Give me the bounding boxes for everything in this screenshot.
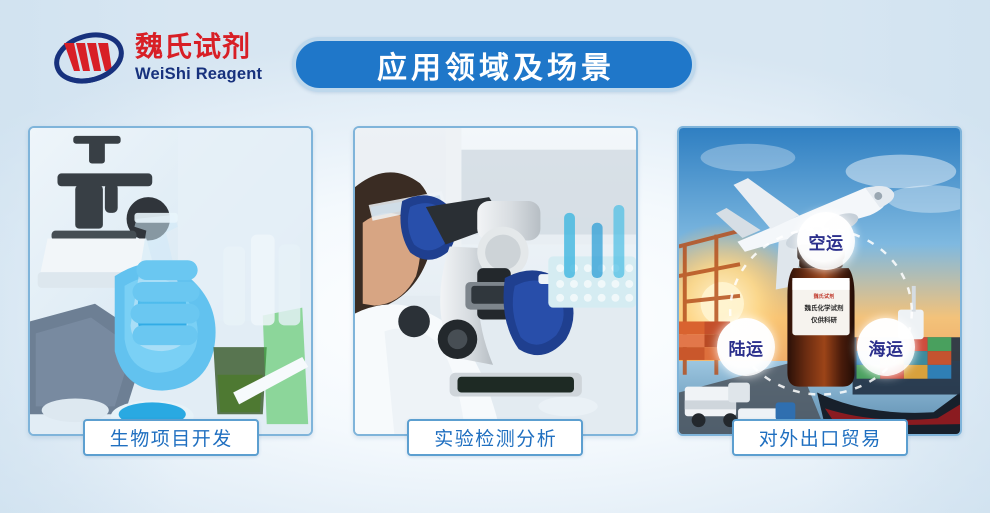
card-label-lab-testing-analysis: 实验检测分析 bbox=[407, 419, 583, 456]
page-title: 应用领域及场景 bbox=[373, 43, 615, 87]
bottle-label: 魏氏试剂 魏氏化学试剂 仅供科研 bbox=[799, 286, 849, 332]
sea-freight-badge: 海运 bbox=[857, 318, 915, 376]
card-export-trade[interactable]: 魏氏试剂 魏氏化学试剂 仅供科研 空运 陆运 海运 对外出口贸易 bbox=[677, 126, 962, 436]
brand-logo-text: 魏氏试剂 WeiShi Reagent bbox=[135, 33, 262, 83]
card-label-bio-project-development: 生物项目开发 bbox=[83, 419, 259, 456]
brand-name-cn: 魏氏试剂 bbox=[135, 33, 262, 61]
photo-microscope-scientist bbox=[355, 128, 636, 434]
card-bio-project-development[interactable]: 生物项目开发 bbox=[28, 126, 313, 436]
photo-logistics-export: 魏氏试剂 魏氏化学试剂 仅供科研 空运 陆运 海运 bbox=[679, 128, 960, 434]
card-label-text: 对外出口贸易 bbox=[757, 424, 882, 451]
page-title-banner: 应用领域及场景 bbox=[292, 37, 696, 92]
photo-lab-flask bbox=[30, 128, 311, 434]
application-cards: 生物项目开发 bbox=[28, 126, 962, 436]
land-freight-badge: 陆运 bbox=[717, 318, 775, 376]
air-freight-badge: 空运 bbox=[797, 212, 855, 270]
card-label-export-trade: 对外出口贸易 bbox=[732, 419, 908, 456]
brand-name-en: WeiShi Reagent bbox=[135, 66, 262, 83]
sea-freight-badge-label: 海运 bbox=[869, 335, 904, 360]
bottle-label-line-1: 魏氏化学试剂 bbox=[805, 305, 844, 314]
land-freight-badge-label: 陆运 bbox=[729, 335, 764, 360]
brand-logo: 魏氏试剂 WeiShi Reagent bbox=[52, 24, 267, 92]
card-lab-testing-analysis[interactable]: 实验检测分析 bbox=[353, 126, 638, 436]
bottle-label-line-2: 仅供科研 bbox=[811, 317, 837, 326]
weishi-w-swoosh-mark-icon bbox=[52, 27, 126, 89]
bottle-brand-mark: 魏氏试剂 bbox=[814, 293, 835, 300]
card-label-text: 生物项目开发 bbox=[108, 424, 233, 451]
slide-canvas: 魏氏试剂 WeiShi Reagent 应用领域及场景 bbox=[0, 0, 990, 513]
air-freight-badge-label: 空运 bbox=[809, 229, 844, 254]
card-label-text: 实验检测分析 bbox=[433, 424, 558, 451]
